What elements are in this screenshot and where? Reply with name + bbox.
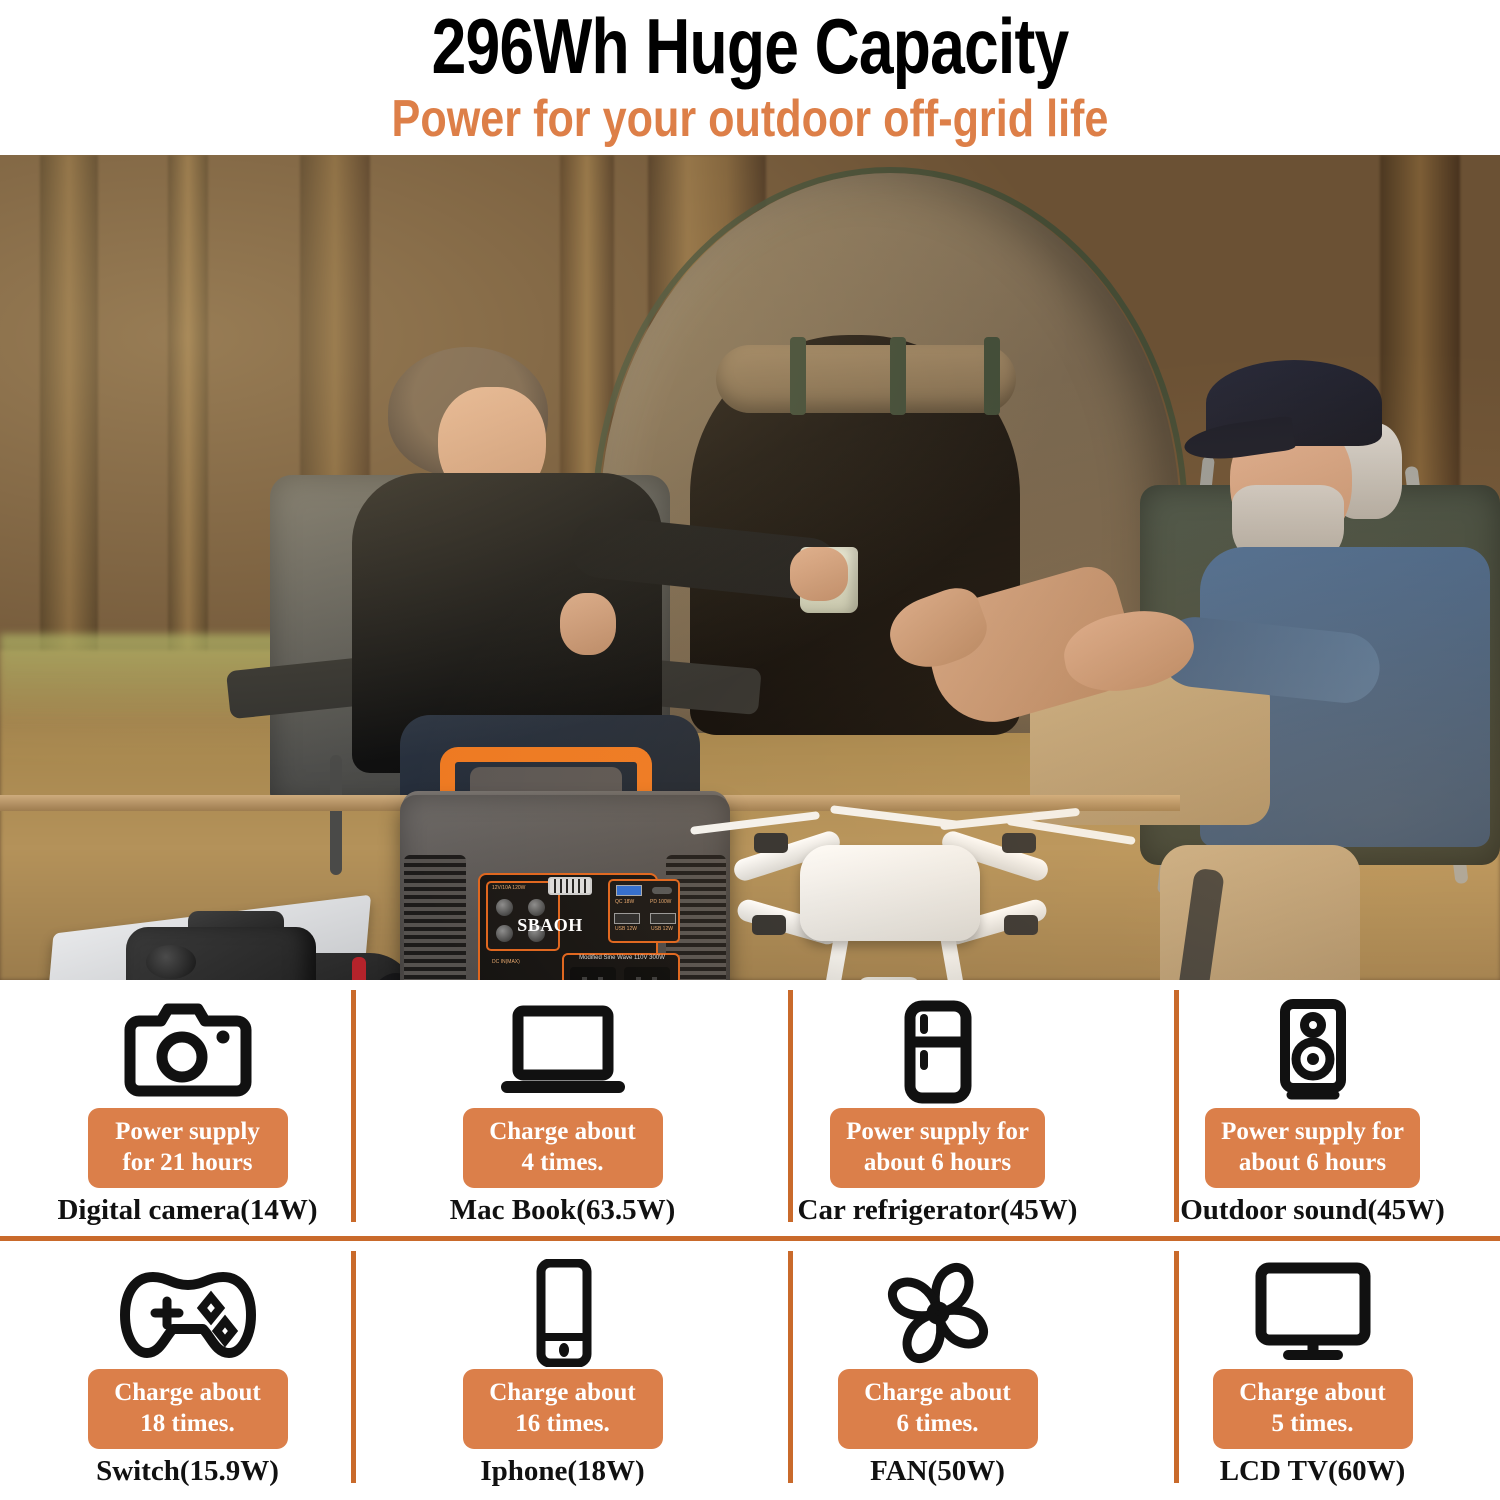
camera-mode-dial xyxy=(146,945,196,979)
tent-rolled-flap xyxy=(716,345,1016,413)
product-infographic: 296Wh Huge Capacity Power for your outdo… xyxy=(0,0,1500,1500)
usb-a-label: USB 12W xyxy=(615,926,637,932)
badge-runtime: Power supply for about 6 hours xyxy=(830,1108,1045,1188)
speaker-icon xyxy=(1265,996,1361,1108)
woman-hand xyxy=(790,547,848,601)
feature-tile-outdoor-sound[interactable]: Power supply for about 6 hours Outdoor s… xyxy=(1125,980,1500,1236)
badge-runtime: Power supply for about 6 hours xyxy=(1205,1108,1420,1188)
dc-output-label: 12V/10A 120W xyxy=(492,885,525,891)
smartphone-icon xyxy=(523,1257,603,1369)
badge-runtime: Charge about 16 times. xyxy=(463,1369,663,1449)
drone-motor xyxy=(752,915,786,935)
page-title: 296Wh Huge Capacity xyxy=(150,0,1350,88)
usb-a-port xyxy=(614,913,640,924)
power-station-display xyxy=(548,877,592,895)
drone-motor xyxy=(1002,833,1036,853)
feature-tile-switch[interactable]: Charge about 18 times. Switch(15.9W) xyxy=(0,1241,375,1497)
feature-tile-car-refrigerator[interactable]: Power supply for about 6 hours Car refri… xyxy=(750,980,1125,1236)
usb-a-port xyxy=(650,913,676,924)
device-label: Mac Book(63.5W) xyxy=(450,1194,676,1227)
usb-pd-label: PD 100W xyxy=(650,899,671,905)
usb-a-label: USB 12W xyxy=(651,926,673,932)
tent-strap xyxy=(984,337,1000,415)
page-subtitle: Power for your outdoor off-grid life xyxy=(128,90,1373,148)
usb-qc-port xyxy=(616,885,642,896)
device-label: Car refrigerator(45W) xyxy=(798,1194,1078,1227)
gamepad-icon xyxy=(113,1257,263,1369)
tent-strap xyxy=(890,337,906,415)
power-station-vent xyxy=(404,855,466,980)
device-label: LCD TV(60W) xyxy=(1220,1455,1406,1488)
ac-outlet xyxy=(624,967,670,980)
feature-tile-lcd-tv[interactable]: Charge about 5 times. LCD TV(60W) xyxy=(1125,1241,1500,1497)
feature-tile-digital-camera[interactable]: Power supply for 21 hours Digital camera… xyxy=(0,980,375,1236)
refrigerator-icon xyxy=(888,996,988,1108)
fan-icon xyxy=(880,1257,996,1369)
drone-motor xyxy=(754,833,788,853)
ac-output-label: Modified Sine Wave 110V 300W xyxy=(566,955,678,961)
badge-runtime: Charge about 4 times. xyxy=(463,1108,663,1188)
device-label: Outdoor sound(45W) xyxy=(1180,1194,1445,1227)
dc-port xyxy=(496,899,513,916)
brand-logo: SBAOH xyxy=(490,915,610,936)
usb-qc-label: QC 18W xyxy=(615,899,634,905)
device-label: Switch(15.9W) xyxy=(96,1455,279,1488)
feature-row: Power supply for 21 hours Digital camera… xyxy=(0,980,1500,1236)
badge-runtime: Charge about 18 times. xyxy=(88,1369,288,1449)
device-label: FAN(50W) xyxy=(870,1455,1005,1488)
header: 296Wh Huge Capacity Power for your outdo… xyxy=(0,0,1500,155)
hero-photo: 12V/10A 120W DC IN(MAX) 12V/10A 120W SBA… xyxy=(0,155,1500,980)
badge-runtime: Power supply for 21 hours xyxy=(88,1108,288,1188)
feature-tile-fan[interactable]: Charge about 6 times. FAN(50W) xyxy=(750,1241,1125,1497)
badge-runtime: Charge about 6 times. xyxy=(838,1369,1038,1449)
laptop-icon xyxy=(493,996,633,1108)
drone-motor xyxy=(1004,915,1038,935)
feature-grid: Power supply for 21 hours Digital camera… xyxy=(0,980,1500,1500)
usb-c-pd-port xyxy=(652,887,672,894)
woman-hand xyxy=(560,593,616,655)
camera-lens-red-ring xyxy=(352,957,366,980)
feature-tile-macbook[interactable]: Charge about 4 times. Mac Book(63.5W) xyxy=(375,980,750,1236)
tv-icon xyxy=(1245,1257,1381,1369)
camera-icon xyxy=(124,996,252,1108)
drone xyxy=(800,845,980,941)
feature-row: Charge about 18 times. Switch(15.9W) Cha… xyxy=(0,1241,1500,1497)
dc-port xyxy=(528,899,545,916)
tent-strap xyxy=(790,337,806,415)
feature-tile-iphone[interactable]: Charge about 16 times. Iphone(18W) xyxy=(375,1241,750,1497)
dc-input-label: DC IN(MAX) xyxy=(492,959,520,965)
badge-runtime: Charge about 5 times. xyxy=(1213,1369,1413,1449)
ac-outlet xyxy=(570,967,616,980)
device-label: Iphone(18W) xyxy=(480,1455,644,1488)
device-label: Digital camera(14W) xyxy=(57,1194,317,1227)
